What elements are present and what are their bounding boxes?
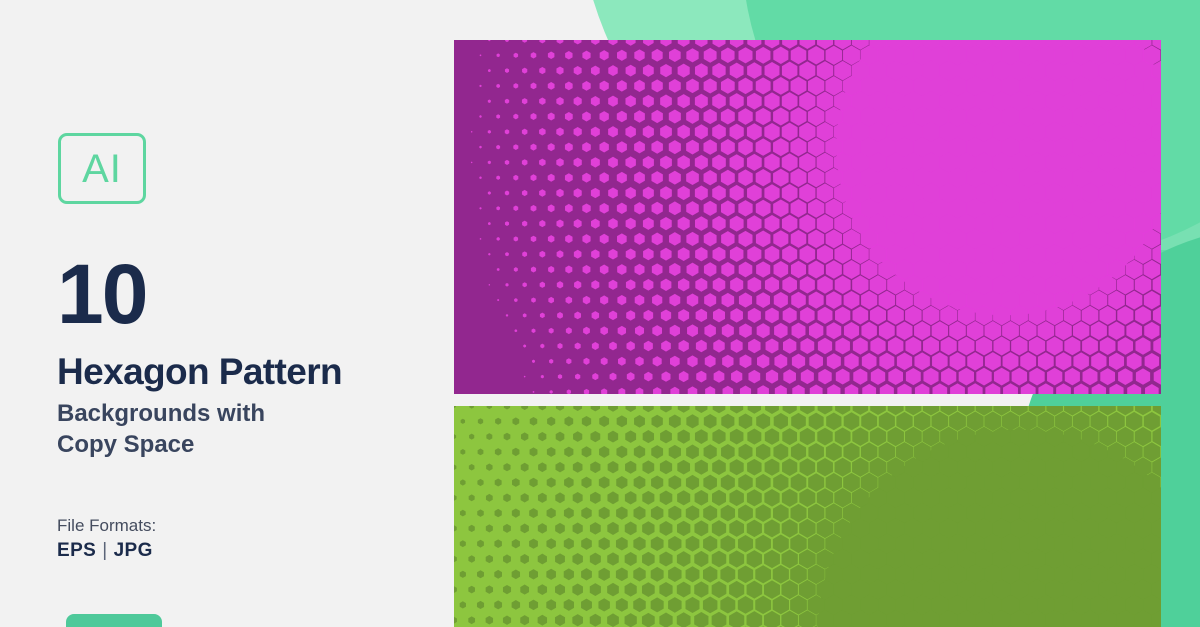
page-subtitle-line-1: Backgrounds with [57,398,417,429]
preview-canvas: AI 10 Hexagon Pattern Backgrounds with C… [0,0,1200,627]
page-title: Hexagon Pattern [57,353,342,390]
item-count: 10 [57,252,146,336]
green-hexagon-preview [454,406,1161,627]
file-formats-value: EPS|JPG [57,540,153,562]
magenta-hexagon-preview [454,40,1161,394]
file-format-jpg: JPG [114,540,153,561]
file-formats-label: File Formats: [57,516,156,536]
mint-pill-decoration [66,614,162,627]
file-format-eps: EPS [57,540,96,561]
adobe-illustrator-badge-label: AI [82,149,122,189]
file-format-separator: | [96,540,113,561]
adobe-illustrator-badge: AI [58,133,146,204]
page-subtitle-line-2: Copy Space [57,429,417,460]
info-column: AI 10 Hexagon Pattern Backgrounds with C… [0,0,454,627]
page-subtitle: Backgrounds with Copy Space [57,398,417,460]
